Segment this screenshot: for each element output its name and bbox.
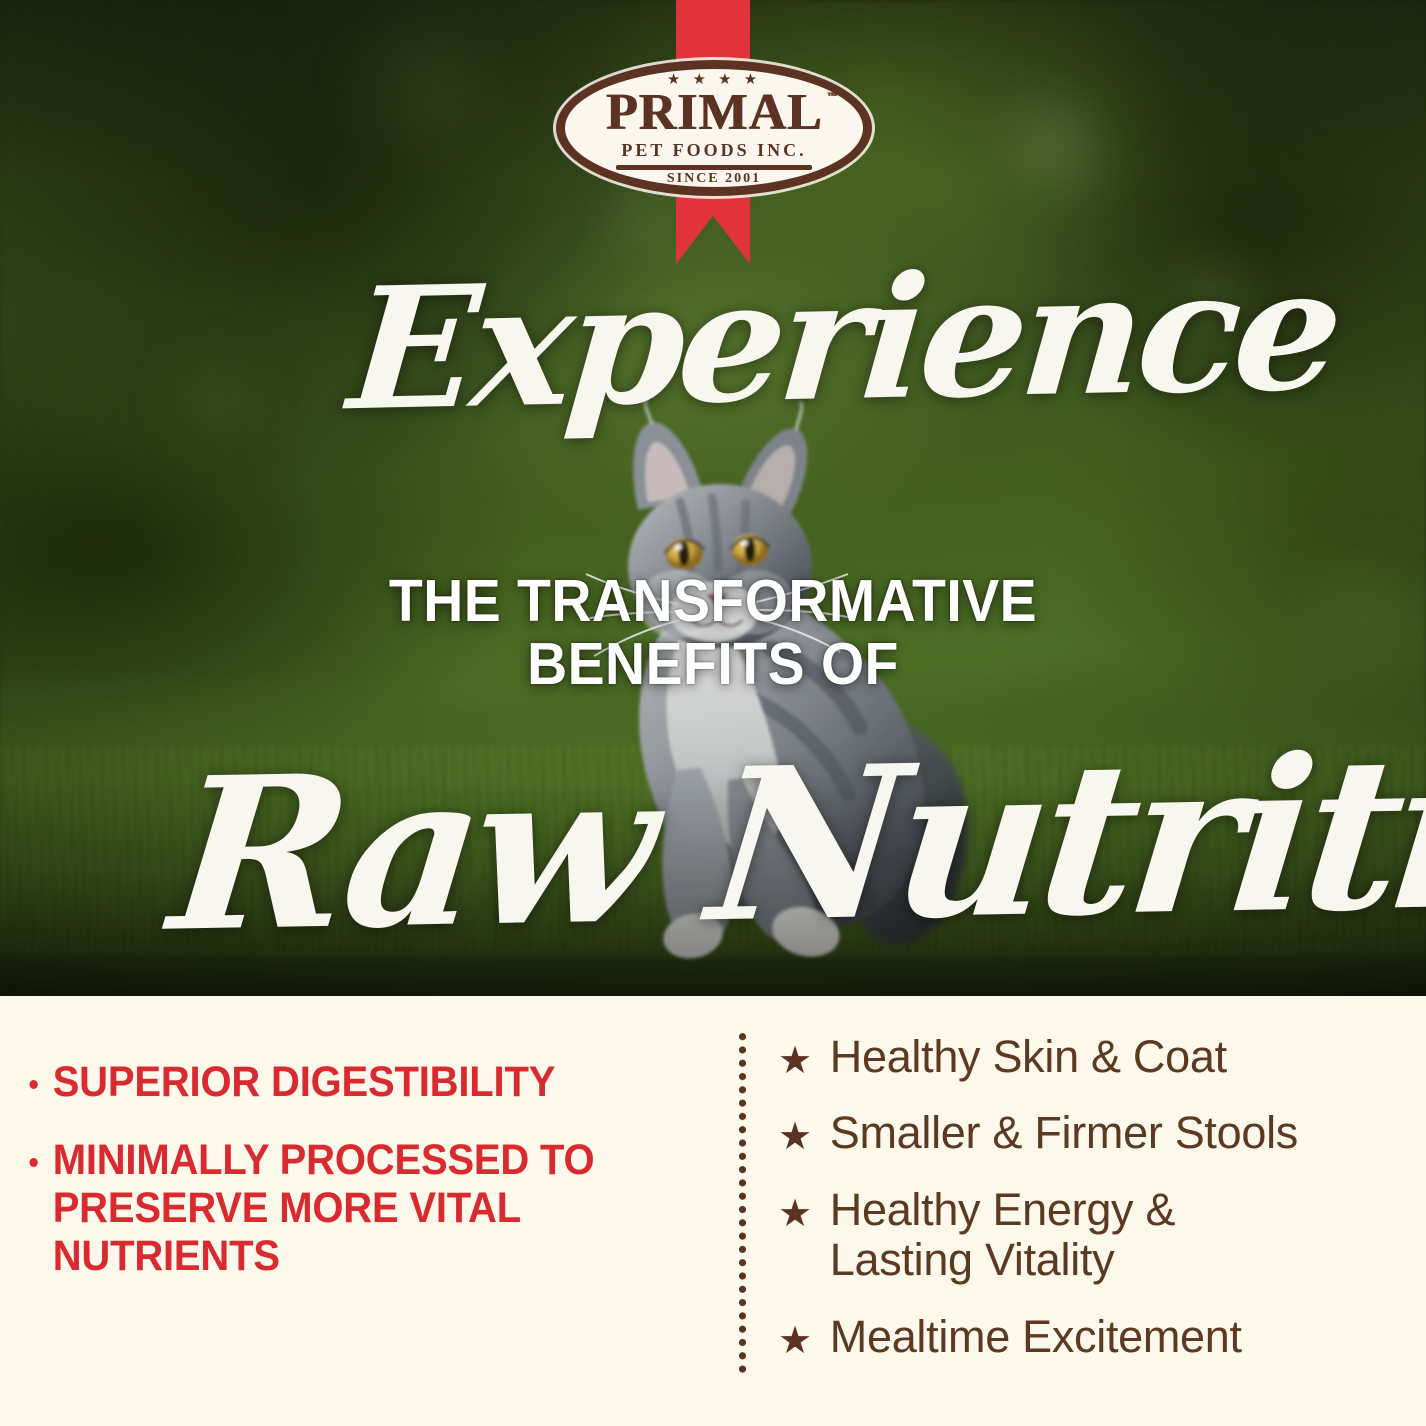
subheadline-line-2: BENEFITS OF — [43, 633, 1383, 696]
benefit-line-1: Mealtime Excitement — [830, 1312, 1242, 1362]
headline-raw-nutrition: Raw Nutrition — [161, 704, 1426, 978]
logo-name-text: PRIMAL — [606, 84, 823, 141]
star-bullet-icon: ★ — [778, 1118, 812, 1156]
star-bullet-icon: ★ — [778, 1322, 812, 1360]
benefit-text: Healthy Skin & Coat — [830, 1032, 1227, 1082]
claims-column: SUPERIOR DIGESTIBILITY MINIMALLY PROCESS… — [0, 996, 716, 1426]
trademark-symbol: ™ — [826, 92, 837, 103]
benefit-text: Healthy Energy & Lasting Vitality — [830, 1185, 1175, 1286]
dot-bullet-icon — [29, 1080, 37, 1089]
benefit-item: ★ Healthy Energy & Lasting Vitality — [778, 1185, 1406, 1286]
benefit-item: ★ Smaller & Firmer Stools — [778, 1108, 1406, 1158]
claim-item: MINIMALLY PROCESSED TO PRESERVE MORE VIT… — [22, 1136, 630, 1280]
primal-logo: ★ ★ ★ ★ PRIMAL ™ PET FOODS INC. SINCE 20… — [556, 60, 872, 196]
claim-text: SUPERIOR DIGESTIBILITY — [53, 1058, 556, 1106]
benefits-column: ★ Healthy Skin & Coat ★ Smaller & Firmer… — [716, 996, 1426, 1426]
benefit-line-1: Smaller & Firmer Stools — [830, 1108, 1298, 1158]
benefit-line-2: Lasting Vitality — [830, 1235, 1175, 1285]
headline-experience: Experience — [343, 230, 1345, 449]
dot-bullet-icon — [29, 1158, 37, 1167]
logo-since-text: SINCE 2001 — [667, 172, 761, 186]
subheadline-line-1: THE TRANSFORMATIVE — [43, 570, 1383, 633]
claim-text: MINIMALLY PROCESSED TO PRESERVE MORE VIT… — [53, 1136, 631, 1280]
claim-item: SUPERIOR DIGESTIBILITY — [22, 1058, 630, 1106]
star-bullet-icon: ★ — [778, 1042, 812, 1080]
logo-subtitle: PET FOODS INC. — [621, 141, 806, 159]
star-bullet-icon: ★ — [778, 1195, 812, 1233]
benefits-panel: SUPERIOR DIGESTIBILITY MINIMALLY PROCESS… — [0, 996, 1426, 1426]
subheadline: THE TRANSFORMATIVE BENEFITS OF — [43, 570, 1383, 695]
benefit-item: ★ Healthy Skin & Coat — [778, 1032, 1406, 1082]
hero-photo: ★ ★ ★ ★ PRIMAL ™ PET FOODS INC. SINCE 20… — [0, 0, 1426, 996]
benefit-line-1: Healthy Energy & — [830, 1185, 1175, 1235]
benefit-text: Mealtime Excitement — [830, 1312, 1242, 1362]
benefit-item: ★ Mealtime Excitement — [778, 1312, 1406, 1362]
poster-root: ★ ★ ★ ★ PRIMAL ™ PET FOODS INC. SINCE 20… — [0, 0, 1426, 1426]
benefit-text: Smaller & Firmer Stools — [830, 1108, 1298, 1158]
benefit-line-1: Healthy Skin & Coat — [830, 1032, 1227, 1082]
dotted-divider — [738, 1030, 747, 1378]
logo-divider-rule — [616, 165, 812, 170]
logo-wordmark: PRIMAL ™ — [606, 88, 823, 138]
